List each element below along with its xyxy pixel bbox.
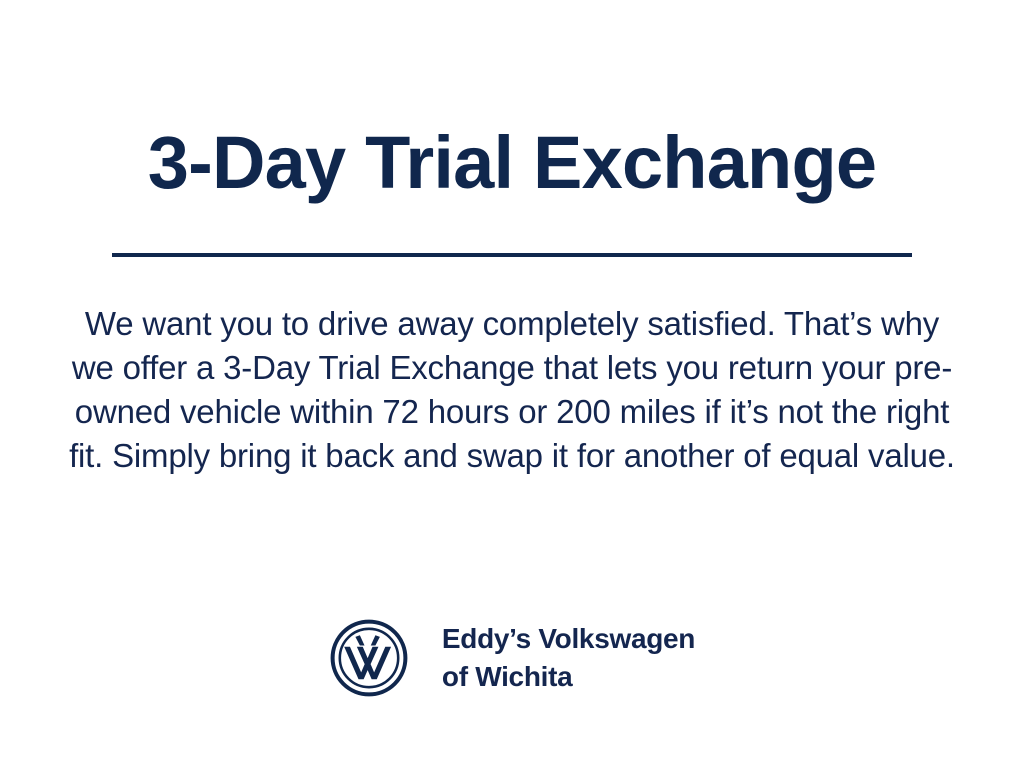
- brand-lockup: Eddy’s Volkswagen of Wichita: [0, 618, 1024, 698]
- title-divider: [112, 253, 912, 257]
- page-title: 3-Day Trial Exchange: [0, 126, 1024, 200]
- dealership-name-line-2: of Wichita: [442, 658, 695, 696]
- promo-slide: 3-Day Trial Exchange We want you to driv…: [0, 0, 1024, 768]
- body-copy: We want you to drive away completely sat…: [62, 302, 962, 478]
- body-copy-container: We want you to drive away completely sat…: [62, 302, 962, 478]
- page-title-container: 3-Day Trial Exchange: [0, 126, 1024, 200]
- volkswagen-logo-icon: [329, 618, 409, 698]
- dealership-name: Eddy’s Volkswagen of Wichita: [442, 620, 695, 696]
- dealership-name-line-1: Eddy’s Volkswagen: [442, 620, 695, 658]
